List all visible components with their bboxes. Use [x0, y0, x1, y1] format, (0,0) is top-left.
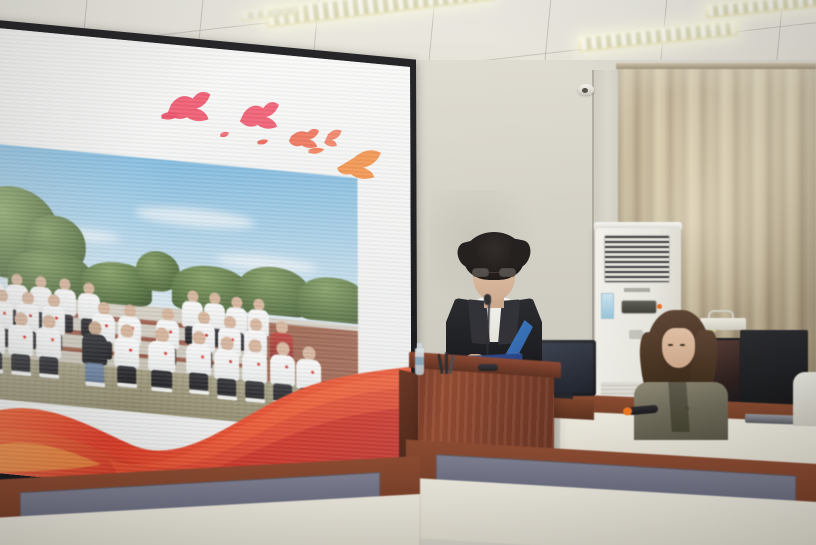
edge-attendee — [793, 372, 816, 426]
energy-rating-label — [601, 293, 614, 319]
screen-surface — [0, 26, 412, 512]
air-conditioner-vent-icon — [604, 235, 670, 283]
projection-screen[interactable] — [0, 18, 418, 522]
pen-holder[interactable] — [439, 352, 455, 374]
ceiling-dome-camera-icon — [578, 84, 594, 95]
attendee-eye-left — [668, 344, 673, 346]
dove-flock-icon — [0, 26, 412, 512]
attendee-coat-button — [684, 406, 689, 411]
seated-attendee — [636, 310, 722, 420]
gooseneck-microphone[interactable] — [484, 294, 491, 305]
curtain-rod — [616, 63, 816, 69]
conference-room-photo — [0, 0, 816, 545]
attendee-face — [662, 328, 695, 368]
attendee-eye-right — [680, 344, 685, 346]
water-bottle[interactable] — [415, 348, 424, 375]
microphone-base — [478, 364, 498, 371]
eyeglasses-icon — [471, 268, 517, 277]
air-conditioner-brand — [624, 288, 650, 292]
wall-corner-edge — [592, 70, 594, 370]
